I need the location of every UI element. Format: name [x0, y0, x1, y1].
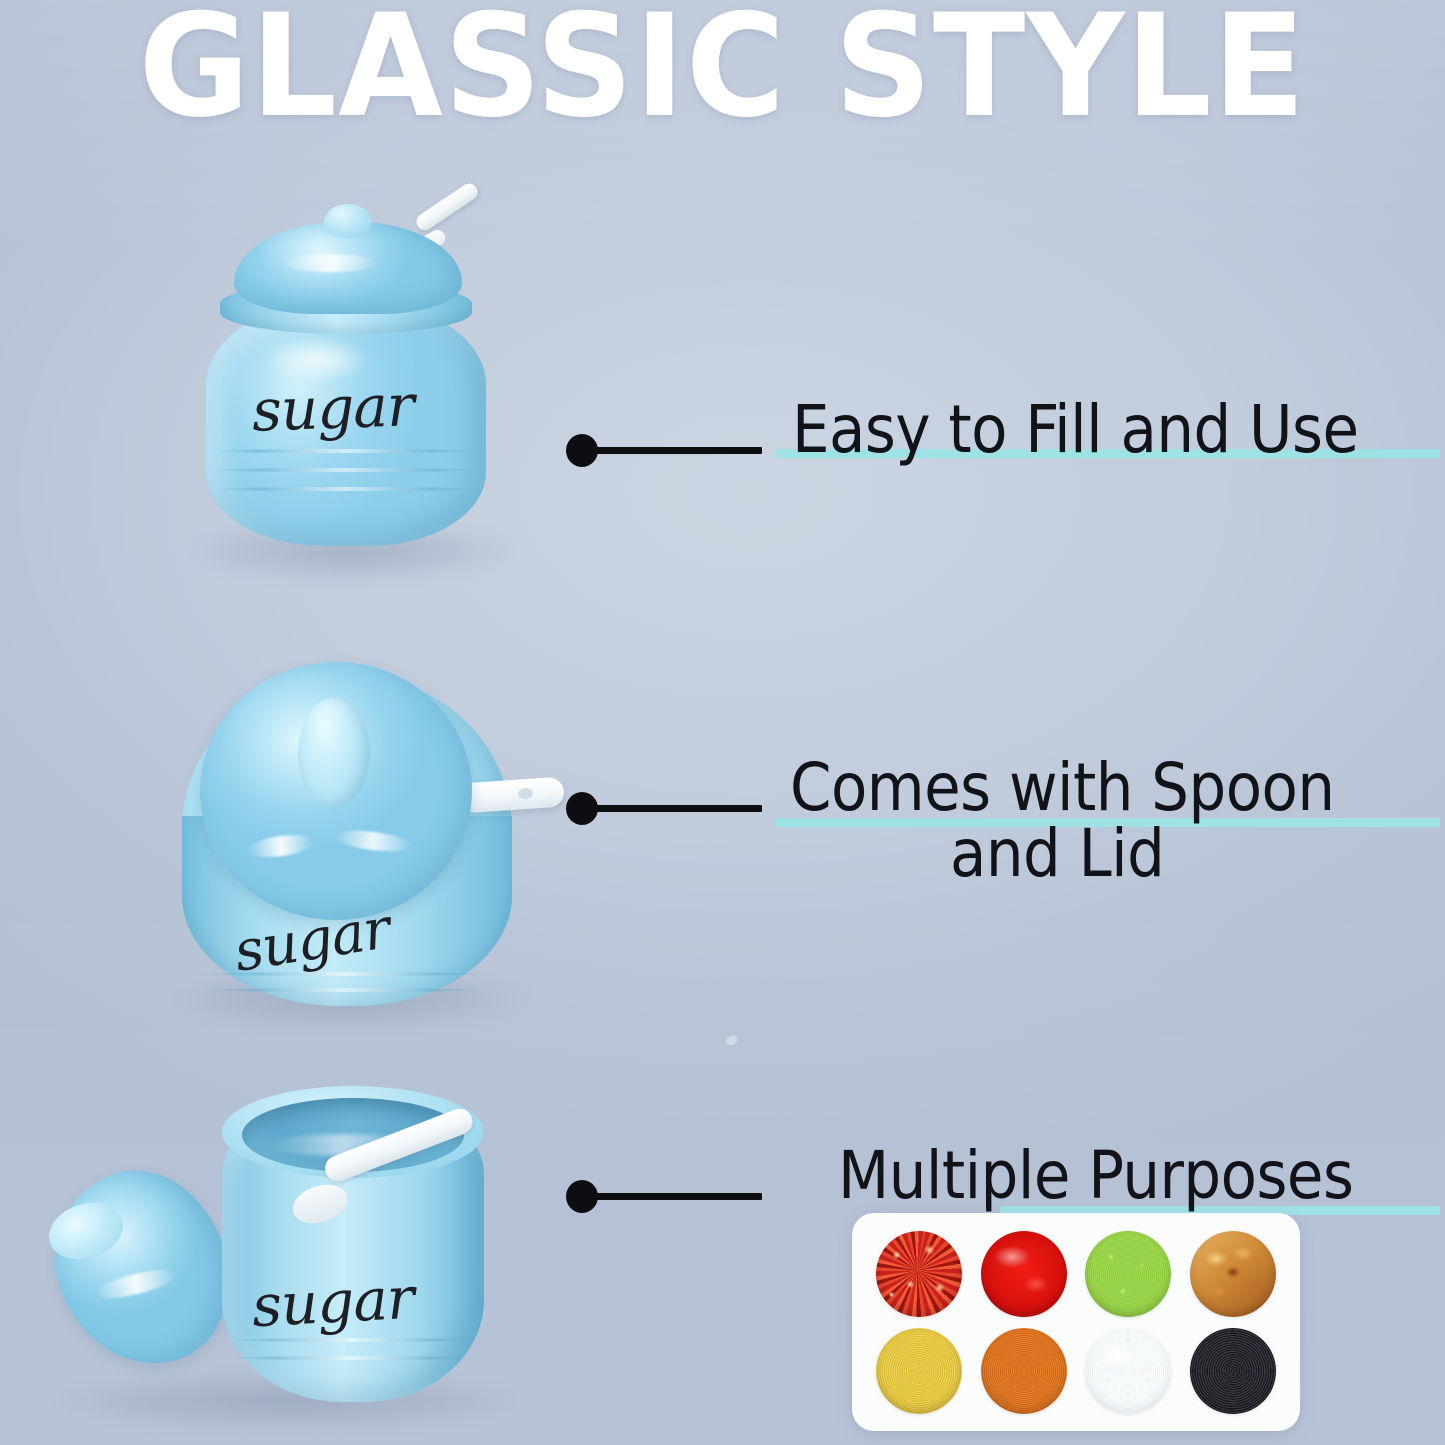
- jar-open: sugar: [36, 1082, 536, 1445]
- spoon-handle-icon: [459, 776, 565, 813]
- spice-well-yellow-mustard-seeds: [876, 1328, 962, 1414]
- connector-line: [594, 447, 762, 454]
- feature-underline: [776, 818, 1440, 827]
- jar-rib: [212, 449, 480, 453]
- feature-underline: [776, 449, 1440, 458]
- connector-line: [594, 1193, 762, 1200]
- feature-label-line-2: and Lid: [950, 820, 1164, 888]
- jar-label-text: sugar: [251, 371, 415, 445]
- spice-well-red-chili-paste: [981, 1231, 1067, 1317]
- spoon-handle-hole: [724, 1034, 738, 1047]
- spice-well-chopped-red-chili: [876, 1231, 962, 1317]
- jar-lid-detached: [32, 1149, 252, 1387]
- spice-well-orange-chili-powder: [981, 1328, 1067, 1414]
- jar-label-text: sugar: [250, 1264, 415, 1340]
- jar-lid-knob: [298, 698, 370, 808]
- spice-tray-image: [852, 1213, 1300, 1431]
- feature-label: Multiple Purposes: [838, 1142, 1353, 1210]
- spice-well-dried-fruit-nuts: [1190, 1231, 1276, 1317]
- lid-highlight: [282, 254, 378, 272]
- jar-rib: [212, 468, 480, 472]
- product-infographic-poster: GLASSIC STYLE sugar sugar: [0, 0, 1445, 1445]
- feature-label-line-1: Comes with Spoon: [790, 754, 1335, 822]
- jar-rib: [200, 988, 490, 992]
- spice-well-white-salt: [1085, 1328, 1171, 1414]
- jar-front-closed: sugar: [196, 196, 506, 566]
- spice-well-black-sesame-seeds: [1190, 1328, 1276, 1414]
- spice-well-grid: [870, 1227, 1282, 1417]
- bullet-dot-icon: [566, 434, 598, 467]
- jar-top-closed: sugar: [176, 640, 576, 1030]
- jar-lid-knob: [324, 204, 372, 238]
- connector-line: [594, 805, 762, 812]
- spice-well-matcha-green-powder: [1085, 1231, 1171, 1317]
- spoon-handle-icon: [413, 180, 481, 233]
- jar-rib: [212, 487, 480, 491]
- page-title: GLASSIC STYLE: [0, 0, 1445, 142]
- feature-label: Easy to Fill and Use: [792, 396, 1359, 464]
- bullet-dot-icon: [566, 1180, 598, 1213]
- jar-rib: [230, 1356, 476, 1360]
